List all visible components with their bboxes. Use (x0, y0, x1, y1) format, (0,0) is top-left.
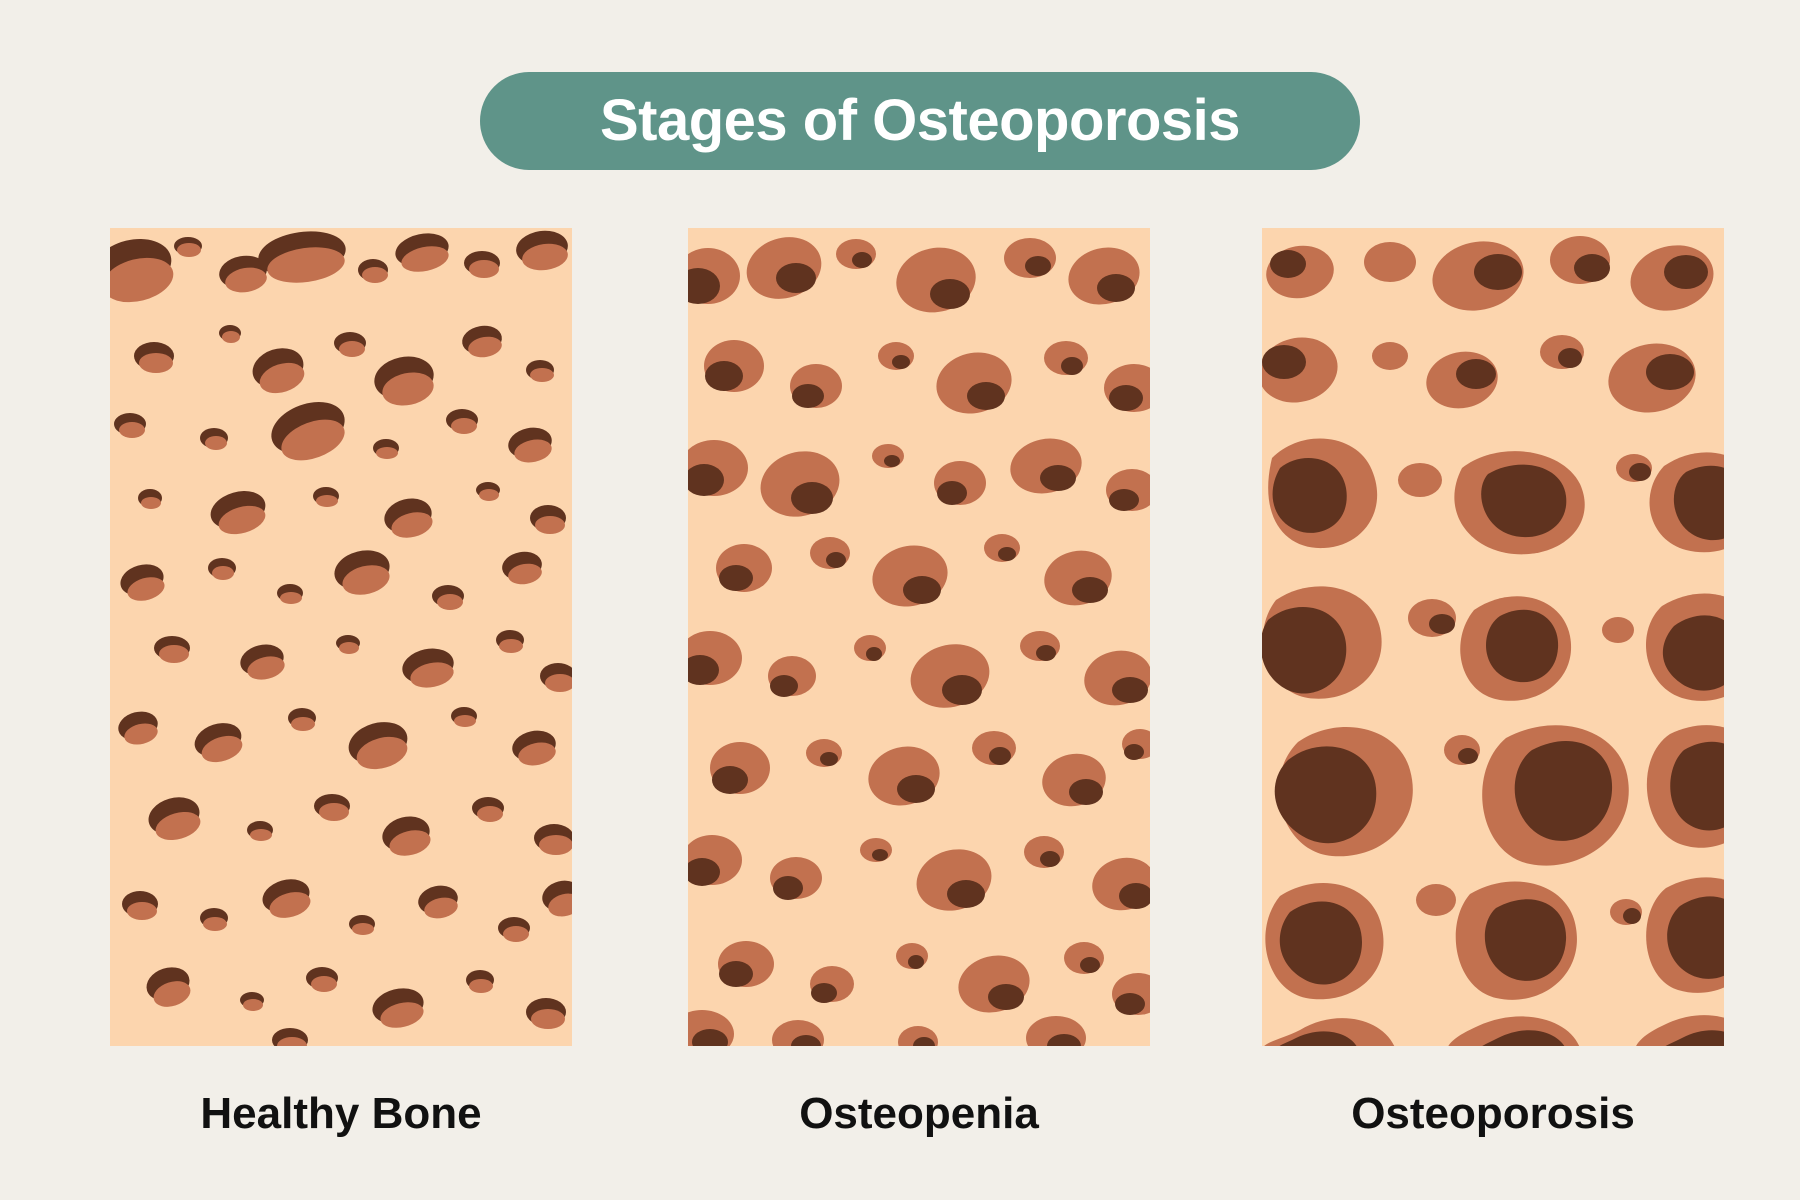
page-title: Stages of Osteoporosis (600, 92, 1240, 150)
title-banner: Stages of Osteoporosis (480, 72, 1360, 170)
bone-illustration-healthy-bone (110, 228, 572, 1046)
bone-illustration-osteoporosis (1262, 228, 1724, 1046)
stage-column-osteoporosis: Osteoporosis (1262, 228, 1724, 1136)
bone-illustration-osteopenia (688, 228, 1150, 1046)
stage-column-osteopenia: Osteopenia (688, 228, 1150, 1136)
stage-label-healthy-bone: Healthy Bone (110, 1092, 572, 1136)
stage-column-healthy-bone: Healthy Bone (110, 228, 572, 1136)
stage-label-osteoporosis: Osteoporosis (1262, 1092, 1724, 1136)
stage-label-osteopenia: Osteopenia (688, 1092, 1150, 1136)
stages-panel-row: Healthy Bone (0, 228, 1800, 1048)
